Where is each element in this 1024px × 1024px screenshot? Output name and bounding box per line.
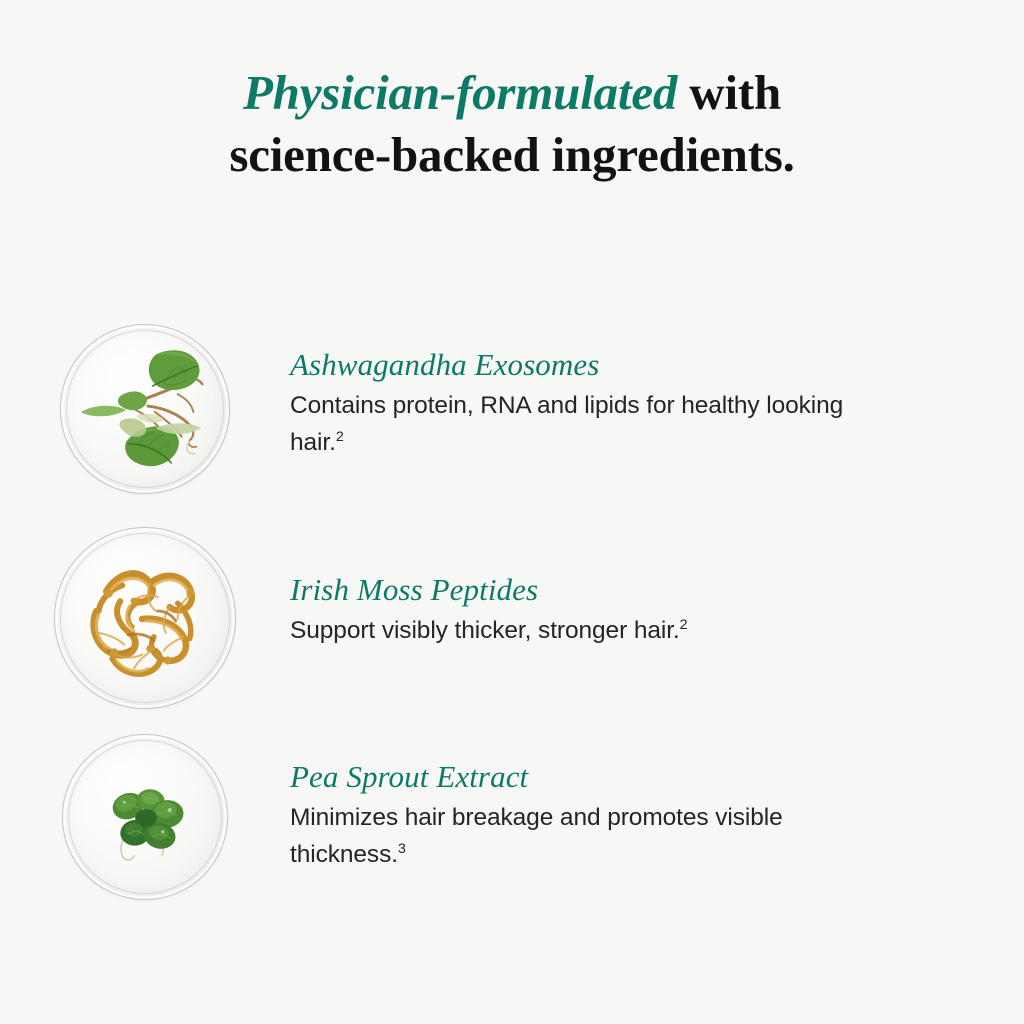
- ingredient-image-wrap-pea-sprout: [0, 728, 290, 900]
- ingredient-description-text: Contains protein, RNA and lipids for hea…: [290, 392, 843, 456]
- irish-moss-petri-dish-icon: [54, 527, 236, 709]
- ingredient-description-text: Minimizes hair breakage and promotes vis…: [290, 804, 783, 868]
- ingredient-description: Minimizes hair breakage and promotes vis…: [290, 799, 850, 873]
- ingredient-footnote-marker: 2: [680, 617, 688, 633]
- pea-sprout-petri-dish-icon: [62, 734, 228, 900]
- ingredient-text-pea-sprout: Pea Sprout Extract Minimizes hair breaka…: [290, 728, 850, 873]
- ingredient-item-ashwagandha: Ashwagandha Exosomes Contains protein, R…: [0, 318, 1024, 523]
- ashwagandha-petri-dish-icon: [60, 324, 230, 494]
- irish-moss-illustration: [55, 528, 235, 708]
- ingredient-description-text: Support visibly thicker, stronger hair.: [290, 617, 680, 644]
- ingredient-item-pea-sprout: Pea Sprout Extract Minimizes hair breaka…: [0, 728, 1024, 933]
- ingredient-description: Contains protein, RNA and lipids for hea…: [290, 387, 850, 461]
- ingredient-footnote-marker: 3: [398, 841, 406, 857]
- ingredient-title: Pea Sprout Extract: [290, 758, 850, 796]
- ingredient-item-irish-moss: Irish Moss Peptides Support visibly thic…: [0, 523, 1024, 728]
- headline-rest-text: with: [677, 65, 781, 120]
- ingredient-image-wrap-irish-moss: [0, 523, 290, 709]
- ingredient-title: Ashwagandha Exosomes: [290, 346, 850, 384]
- ingredient-text-irish-moss: Irish Moss Peptides Support visibly thic…: [290, 523, 687, 649]
- ingredient-image-wrap-ashwagandha: [0, 318, 290, 494]
- ashwagandha-plant-illustration: [61, 325, 229, 493]
- ingredient-text-ashwagandha: Ashwagandha Exosomes Contains protein, R…: [290, 318, 850, 461]
- ingredient-footnote-marker: 2: [336, 429, 344, 445]
- ingredient-title: Irish Moss Peptides: [290, 571, 687, 609]
- headline-second-line: science-backed ingredients.: [0, 124, 1024, 186]
- ingredient-description: Support visibly thicker, stronger hair.2: [290, 612, 687, 649]
- page-headline: Physician-formulated with science-backed…: [0, 62, 1024, 186]
- ingredient-list: Ashwagandha Exosomes Contains protein, R…: [0, 318, 1024, 933]
- pea-sprout-illustration: [63, 735, 227, 899]
- headline-accent-text: Physician-formulated: [243, 65, 677, 120]
